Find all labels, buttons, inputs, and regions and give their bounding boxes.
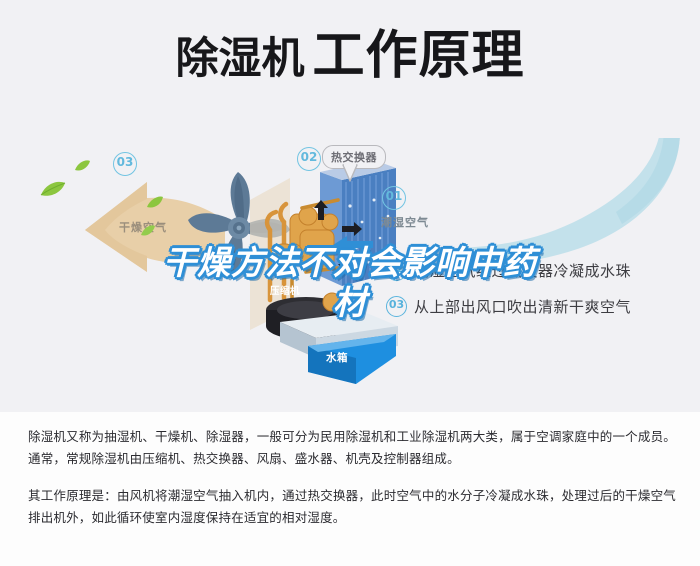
body-copy-section: 除湿机又称为抽湿机、干燥机、除湿器，一般可分为民用除湿机和工业除湿机两大类，属于… [0, 412, 700, 566]
page-title-small: 除湿机 [175, 34, 304, 84]
step-text: 从上部出风口吹出清新干爽空气 [414, 296, 631, 317]
diagram-hero: 除湿机工作原理 干燥空气 [0, 0, 700, 412]
callout-tail-icon [342, 164, 358, 182]
leaf-icon-1 [40, 181, 66, 199]
steps-list: 02 潮湿空气经过蒸发器冷凝成水珠 03 从上部出风口吹出清新干爽空气 [386, 255, 686, 327]
badge-03: 03 [113, 152, 137, 176]
compressor-label: 压缩机 [270, 283, 300, 297]
air-inlet-arrow-icon [333, 236, 373, 254]
page-title-large: 工作原理 [312, 26, 524, 86]
list-item: 03 从上部出风口吹出清新干爽空气 [386, 291, 686, 321]
leaf-icon-3 [146, 196, 164, 210]
leaf-icon-2 [74, 160, 91, 173]
paragraph-1: 除湿机又称为抽湿机、干燥机、除湿器，一般可分为民用除湿机和工业除湿机两大类，属于… [28, 426, 676, 470]
badge-02: 02 [297, 147, 321, 171]
page-title: 除湿机工作原理 [0, 30, 700, 82]
paragraph-2: 其工作原理是：由风机将潮湿空气抽入机内，通过热交换器，此时空气中的水分子冷凝成水… [28, 485, 676, 529]
leaf-icon-4 [140, 225, 156, 238]
step-text: 潮湿空气经过蒸发器冷凝成水珠 [414, 260, 631, 281]
moist-air-label: 潮湿空气 [381, 214, 429, 230]
water-tank-label: 水箱 [326, 350, 348, 365]
moist-air-flow-swoosh [392, 138, 682, 268]
step-number: 03 [386, 296, 407, 317]
page-root: 除湿机工作原理 干燥空气 [0, 0, 700, 566]
badge-01: 01 [382, 186, 406, 210]
step-number: 02 [386, 260, 407, 281]
list-item: 02 潮湿空气经过蒸发器冷凝成水珠 [386, 255, 686, 285]
